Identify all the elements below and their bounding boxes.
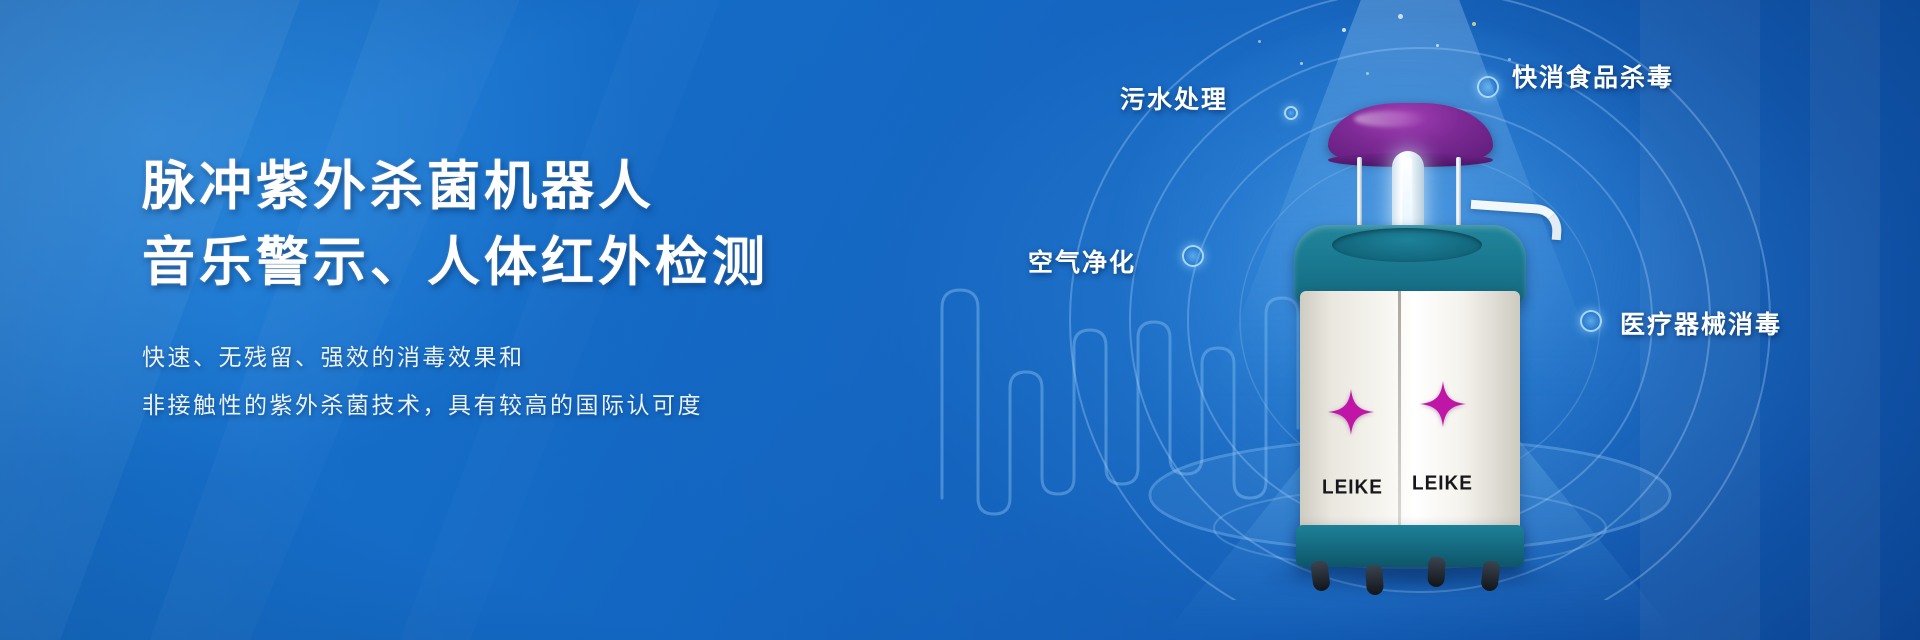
callout-label-air-purification: 空气净化 bbox=[1028, 243, 1136, 279]
subtitle-line-1: 快速、无残留、强效的消毒效果和 bbox=[142, 334, 862, 382]
sparkle-star-icon bbox=[1328, 389, 1374, 435]
caster-wheel bbox=[1480, 560, 1501, 592]
top-recess-ring bbox=[1332, 228, 1482, 262]
callout-label-wastewater-treatment: 污水处理 bbox=[1120, 80, 1228, 116]
sparkle-dot bbox=[1258, 40, 1261, 43]
callout-label-medical-device-sterilization: 医疗器械消毒 bbox=[1620, 305, 1782, 341]
sparkle-star-icon bbox=[1420, 381, 1466, 427]
headline-line-2: 音乐警示、人体红外检测 bbox=[142, 226, 862, 298]
sparkle-dot bbox=[1342, 28, 1346, 32]
product-brand-label: LEIKE bbox=[1322, 476, 1383, 500]
sparkle-dot bbox=[1398, 14, 1403, 19]
callout-node-medical bbox=[1580, 310, 1602, 332]
sparkle-dot bbox=[1472, 22, 1476, 26]
banner-copy: 脉冲紫外杀菌机器人 音乐警示、人体红外检测 快速、无残留、强效的消毒效果和 非接… bbox=[142, 150, 862, 430]
callout-node-wastewater bbox=[1284, 106, 1298, 120]
pulsed-uv-disinfection-robot: LEIKE LEIKE bbox=[1280, 95, 1540, 595]
sparkle-dot bbox=[1300, 62, 1303, 65]
caster-wheel bbox=[1427, 557, 1446, 588]
sparkle-dot bbox=[1436, 44, 1439, 47]
callout-node-food bbox=[1477, 76, 1499, 98]
sparkle-dot bbox=[1508, 58, 1511, 61]
body-panel-seam bbox=[1398, 291, 1401, 541]
product-brand-label: LEIKE bbox=[1412, 472, 1473, 496]
hero-banner: 脉冲紫外杀菌机器人 音乐警示、人体红外检测 快速、无残留、强效的消毒效果和 非接… bbox=[0, 0, 1920, 640]
callout-label-fmcg-food-disinfection: 快消食品杀毒 bbox=[1512, 58, 1674, 94]
callout-node-air bbox=[1182, 245, 1204, 267]
support-rod-right bbox=[1456, 157, 1461, 229]
subtitle-line-2: 非接触性的紫外杀菌技术，具有较高的国际认可度 bbox=[142, 382, 862, 430]
dome-highlight bbox=[1354, 111, 1428, 127]
uv-lamp-core bbox=[1402, 157, 1412, 233]
support-rod-left bbox=[1357, 157, 1362, 229]
sparkle-dot bbox=[1366, 72, 1369, 75]
caster-wheel bbox=[1365, 564, 1384, 595]
headline-line-1: 脉冲紫外杀菌机器人 bbox=[142, 150, 862, 222]
